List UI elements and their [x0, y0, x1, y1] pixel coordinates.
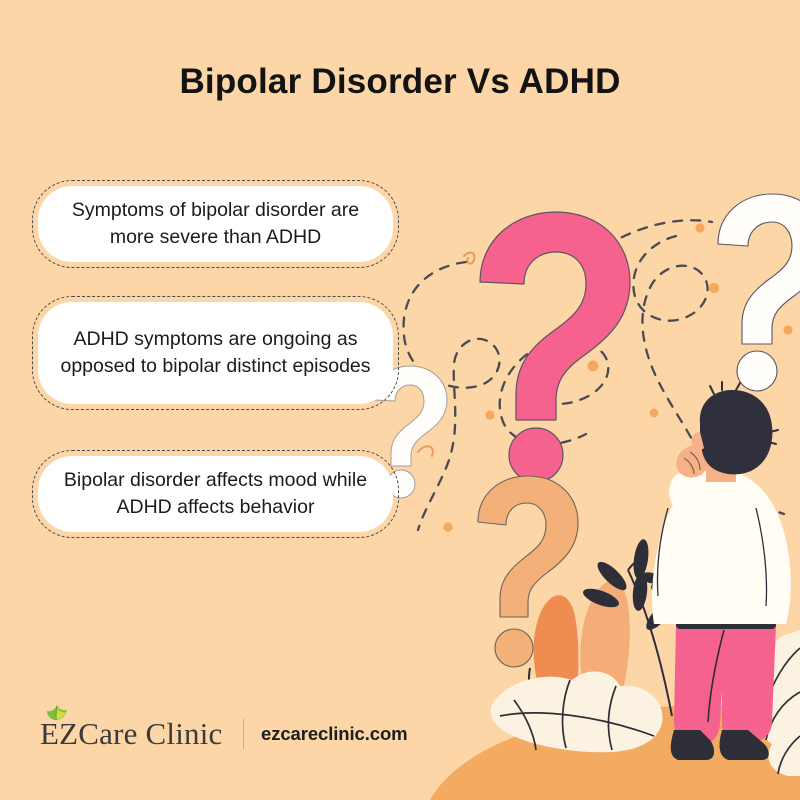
fact-pill-3: Bipolar disorder affects mood while ADHD… — [38, 456, 393, 532]
fact-text-3: Bipolar disorder affects mood while ADHD… — [56, 467, 375, 521]
footer-branding: EZCare Clinic ezcareclinic.com — [40, 716, 408, 752]
fact-text-1: Symptoms of bipolar disorder are more se… — [56, 197, 375, 251]
person-hair — [700, 390, 773, 474]
page-title: Bipolar Disorder Vs ADHD — [0, 62, 800, 102]
brand-logo: EZCare Clinic — [40, 716, 223, 752]
fact-text-2: ADHD symptoms are ongoing as opposed to … — [56, 326, 375, 380]
fact-pill-2: ADHD symptoms are ongoing as opposed to … — [38, 302, 393, 404]
person-pants — [674, 625, 776, 746]
fact-pill-1: Symptoms of bipolar disorder are more se… — [38, 186, 393, 262]
footer-divider — [243, 719, 245, 749]
infographic-canvas: Bipolar Disorder Vs ADHD Symptoms of bip… — [0, 0, 800, 800]
website-url[interactable]: ezcareclinic.com — [261, 723, 407, 745]
leaf-icon — [44, 703, 70, 727]
